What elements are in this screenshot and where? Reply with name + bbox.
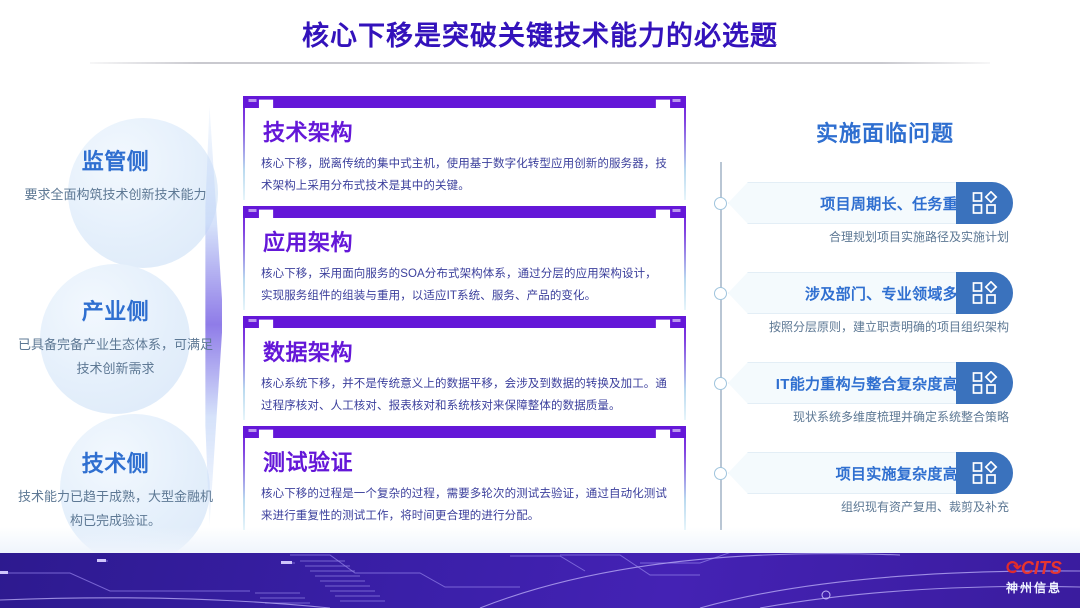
circuit-decoration-icon	[0, 553, 1080, 608]
card-title: 应用架构	[263, 225, 668, 257]
card-app-architecture[interactable]: 应用架构 核心下移，采用面向服务的SOA分布式架构体系，通过分层的应用架构设计，…	[243, 206, 686, 310]
issue-subtext: 现状系统多维度梳理并确定系统整合策略	[728, 408, 1013, 425]
sidebar-group-regulator: 监管侧 要求全面构筑技术创新技术能力	[8, 144, 223, 207]
sidebar-group-heading: 技术侧	[8, 446, 223, 478]
sidebar-group-industry: 产业侧 已具备完备产业生态体系，可满足技术创新需求	[8, 294, 223, 381]
timeline-dot-icon	[714, 197, 727, 210]
sidebar-group-technology: 技术侧 技术能力已趋于成熟，大型金融机构已完成验证。	[8, 446, 223, 533]
sidebar-group-desc: 要求全面构筑技术创新技术能力	[8, 183, 223, 207]
card-data-architecture[interactable]: 数据架构 核心系统下移，并不是传统意义上的数据平移，会涉及到数据的转换及加工。通…	[243, 316, 686, 420]
architecture-card-list: 技术架构 核心下移，脱离传统的集中式主机，使用基于数字化转型应用创新的服务器，技…	[243, 96, 686, 536]
title-divider	[90, 62, 990, 64]
category-grid-icon	[956, 182, 1013, 224]
timeline-dot-icon	[714, 377, 727, 390]
card-title: 技术架构	[263, 115, 668, 147]
issue-subtext: 按照分层原则，建立职责明确的项目组织架构	[728, 318, 1013, 335]
logo-chinese-name: 神州信息	[1006, 582, 1062, 594]
logo-swoosh-icon: ⟳	[1006, 559, 1021, 578]
left-sidebar: 监管侧 要求全面构筑技术创新技术能力 产业侧 已具备完备产业生态体系，可满足技术…	[0, 96, 235, 536]
issue-label: 涉及部门、专业领域多	[748, 272, 968, 314]
card-title: 数据架构	[263, 335, 668, 367]
slide-canvas: 核心下移是突破关键技术能力的必选题 监管侧 要求全面构筑技术创新技术能力 产业侧…	[0, 0, 1080, 608]
issue-label: 项目实施复杂度高	[748, 452, 968, 494]
category-grid-icon	[956, 362, 1013, 404]
right-panel: 实施面临问题 项目周期长、任务重 合理规划项目实施路径及实施计划 涉及部门、专业…	[700, 100, 1070, 530]
timeline-dot-icon	[714, 467, 727, 480]
timeline-dot-icon	[714, 287, 727, 300]
card-tech-architecture[interactable]: 技术架构 核心下移，脱离传统的集中式主机，使用基于数字化转型应用创新的服务器，技…	[243, 96, 686, 200]
card-test-verification[interactable]: 测试验证 核心下移的过程是一个复杂的过程，需要多轮次的测试去验证，通过自动化测试…	[243, 426, 686, 530]
card-body: 核心系统下移，并不是传统意义上的数据平移，会涉及到数据的转换及加工。通过程序核对…	[261, 373, 668, 418]
category-grid-icon	[956, 452, 1013, 494]
card-body: 核心下移的过程是一个复杂的过程，需要多轮次的测试去验证，通过自动化测试来进行重复…	[261, 483, 668, 528]
category-grid-icon	[956, 272, 1013, 314]
issue-subtext: 组织现有资产复用、裁剪及补充	[728, 498, 1013, 515]
card-title: 测试验证	[263, 445, 668, 477]
sidebar-group-heading: 产业侧	[8, 294, 223, 326]
issue-subtext: 合理规划项目实施路径及实施计划	[728, 228, 1013, 245]
logo-wordmark: CITS	[1021, 558, 1062, 578]
company-logo: ⟳CITS 神州信息	[1006, 559, 1062, 594]
issue-label: IT能力重构与整合复杂度高	[748, 362, 968, 404]
card-body: 核心下移，脱离传统的集中式主机，使用基于数字化转型应用创新的服务器，技术架构上采…	[261, 153, 668, 198]
sidebar-group-desc: 技术能力已趋于成熟，大型金融机构已完成验证。	[8, 485, 223, 533]
footer-band: ⟳CITS 神州信息	[0, 553, 1080, 608]
sidebar-group-heading: 监管侧	[8, 144, 223, 176]
page-title: 核心下移是突破关键技术能力的必选题	[0, 14, 1080, 53]
footer-fade	[0, 527, 1080, 553]
sidebar-group-desc: 已具备完备产业生态体系，可满足技术创新需求	[8, 333, 223, 381]
card-body: 核心下移，采用面向服务的SOA分布式架构体系，通过分层的应用架构设计，实现服务组…	[261, 263, 668, 308]
right-panel-title: 实施面临问题	[700, 116, 1070, 148]
issue-label: 项目周期长、任务重	[748, 182, 968, 224]
